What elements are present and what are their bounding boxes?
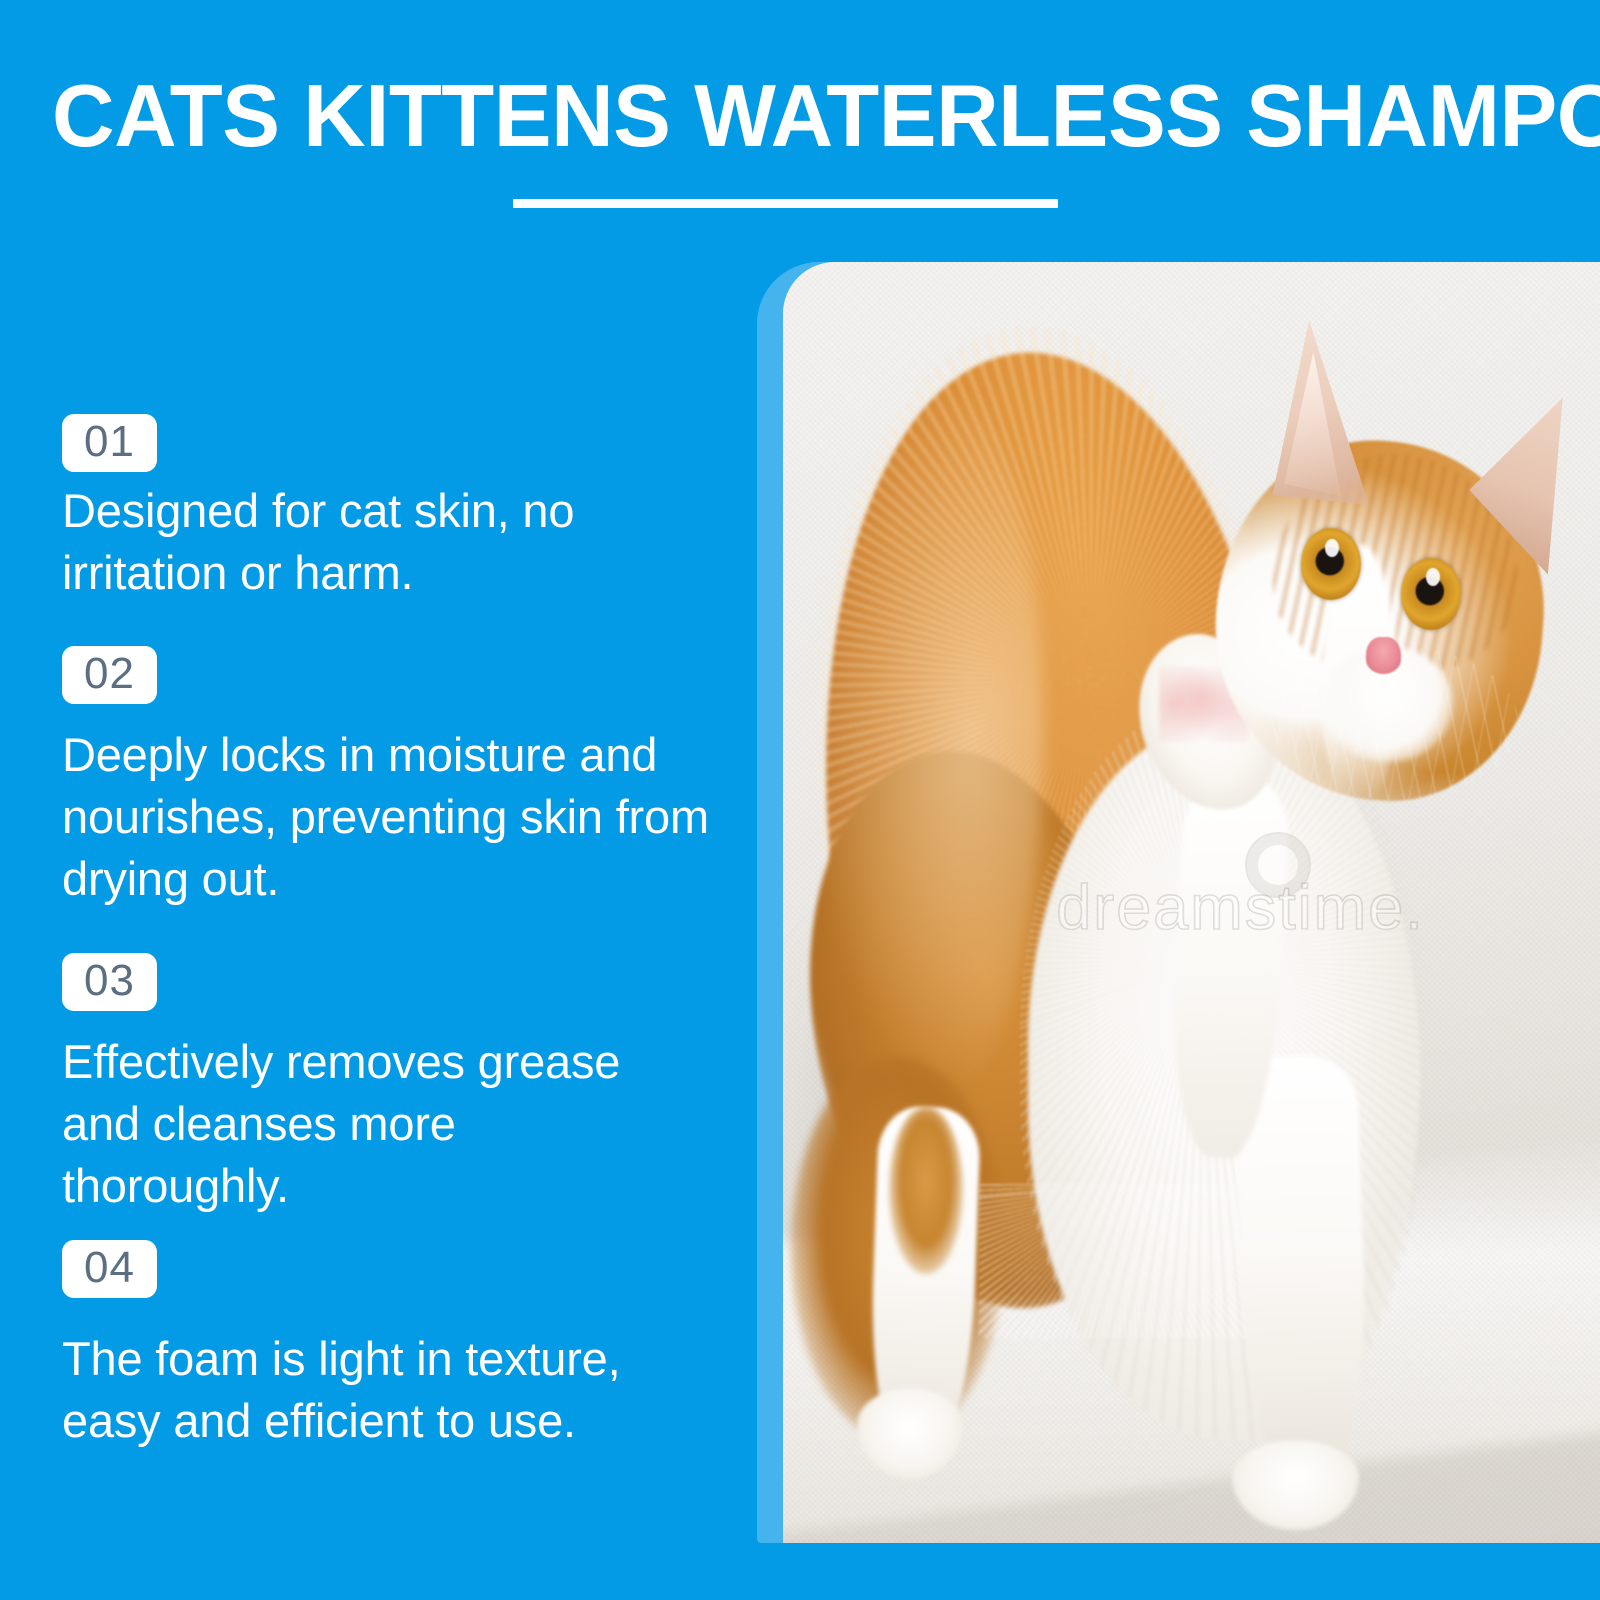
product-photo: dreamstime.: [783, 262, 1600, 1543]
feature-text: The foam is light in texture, easy and e…: [62, 1328, 692, 1452]
cat-right-eye-glint: [1426, 568, 1440, 586]
feature-text: Deeply locks in moisture and nourishes, …: [62, 724, 712, 910]
feature-text: Effectively removes grease and cleanses …: [62, 1031, 652, 1217]
cat-left-eye-glint: [1325, 539, 1339, 557]
title-divider: [513, 199, 1058, 208]
feature-number-badge: 01: [62, 414, 157, 472]
cat-belly-fringe: [979, 1184, 1273, 1338]
list-item: 02 Deeply locks in moisture and nourishe…: [62, 646, 722, 910]
cat-nose: [1366, 637, 1402, 674]
feature-number-badge: 02: [62, 646, 157, 704]
feature-number-badge: 04: [62, 1240, 157, 1298]
cat-illustration: [783, 262, 1600, 1543]
cat-paw-left: [857, 1389, 963, 1479]
list-item: 04 The foam is light in texture, easy an…: [62, 1240, 722, 1452]
infographic-canvas: CATS KITTENS WATERLESS SHAMPOO 01 Design…: [0, 0, 1600, 1600]
cat-paw-right: [1232, 1441, 1359, 1531]
list-item: 01 Designed for cat skin, no irritation …: [62, 414, 722, 604]
feature-text: Designed for cat skin, no irritation or …: [62, 480, 662, 604]
page-title: CATS KITTENS WATERLESS SHAMPOO: [52, 68, 1549, 164]
feature-number-badge: 03: [62, 953, 157, 1011]
cat-leg-patch: [889, 1107, 963, 1274]
list-item: 03 Effectively removes grease and cleans…: [62, 953, 722, 1217]
